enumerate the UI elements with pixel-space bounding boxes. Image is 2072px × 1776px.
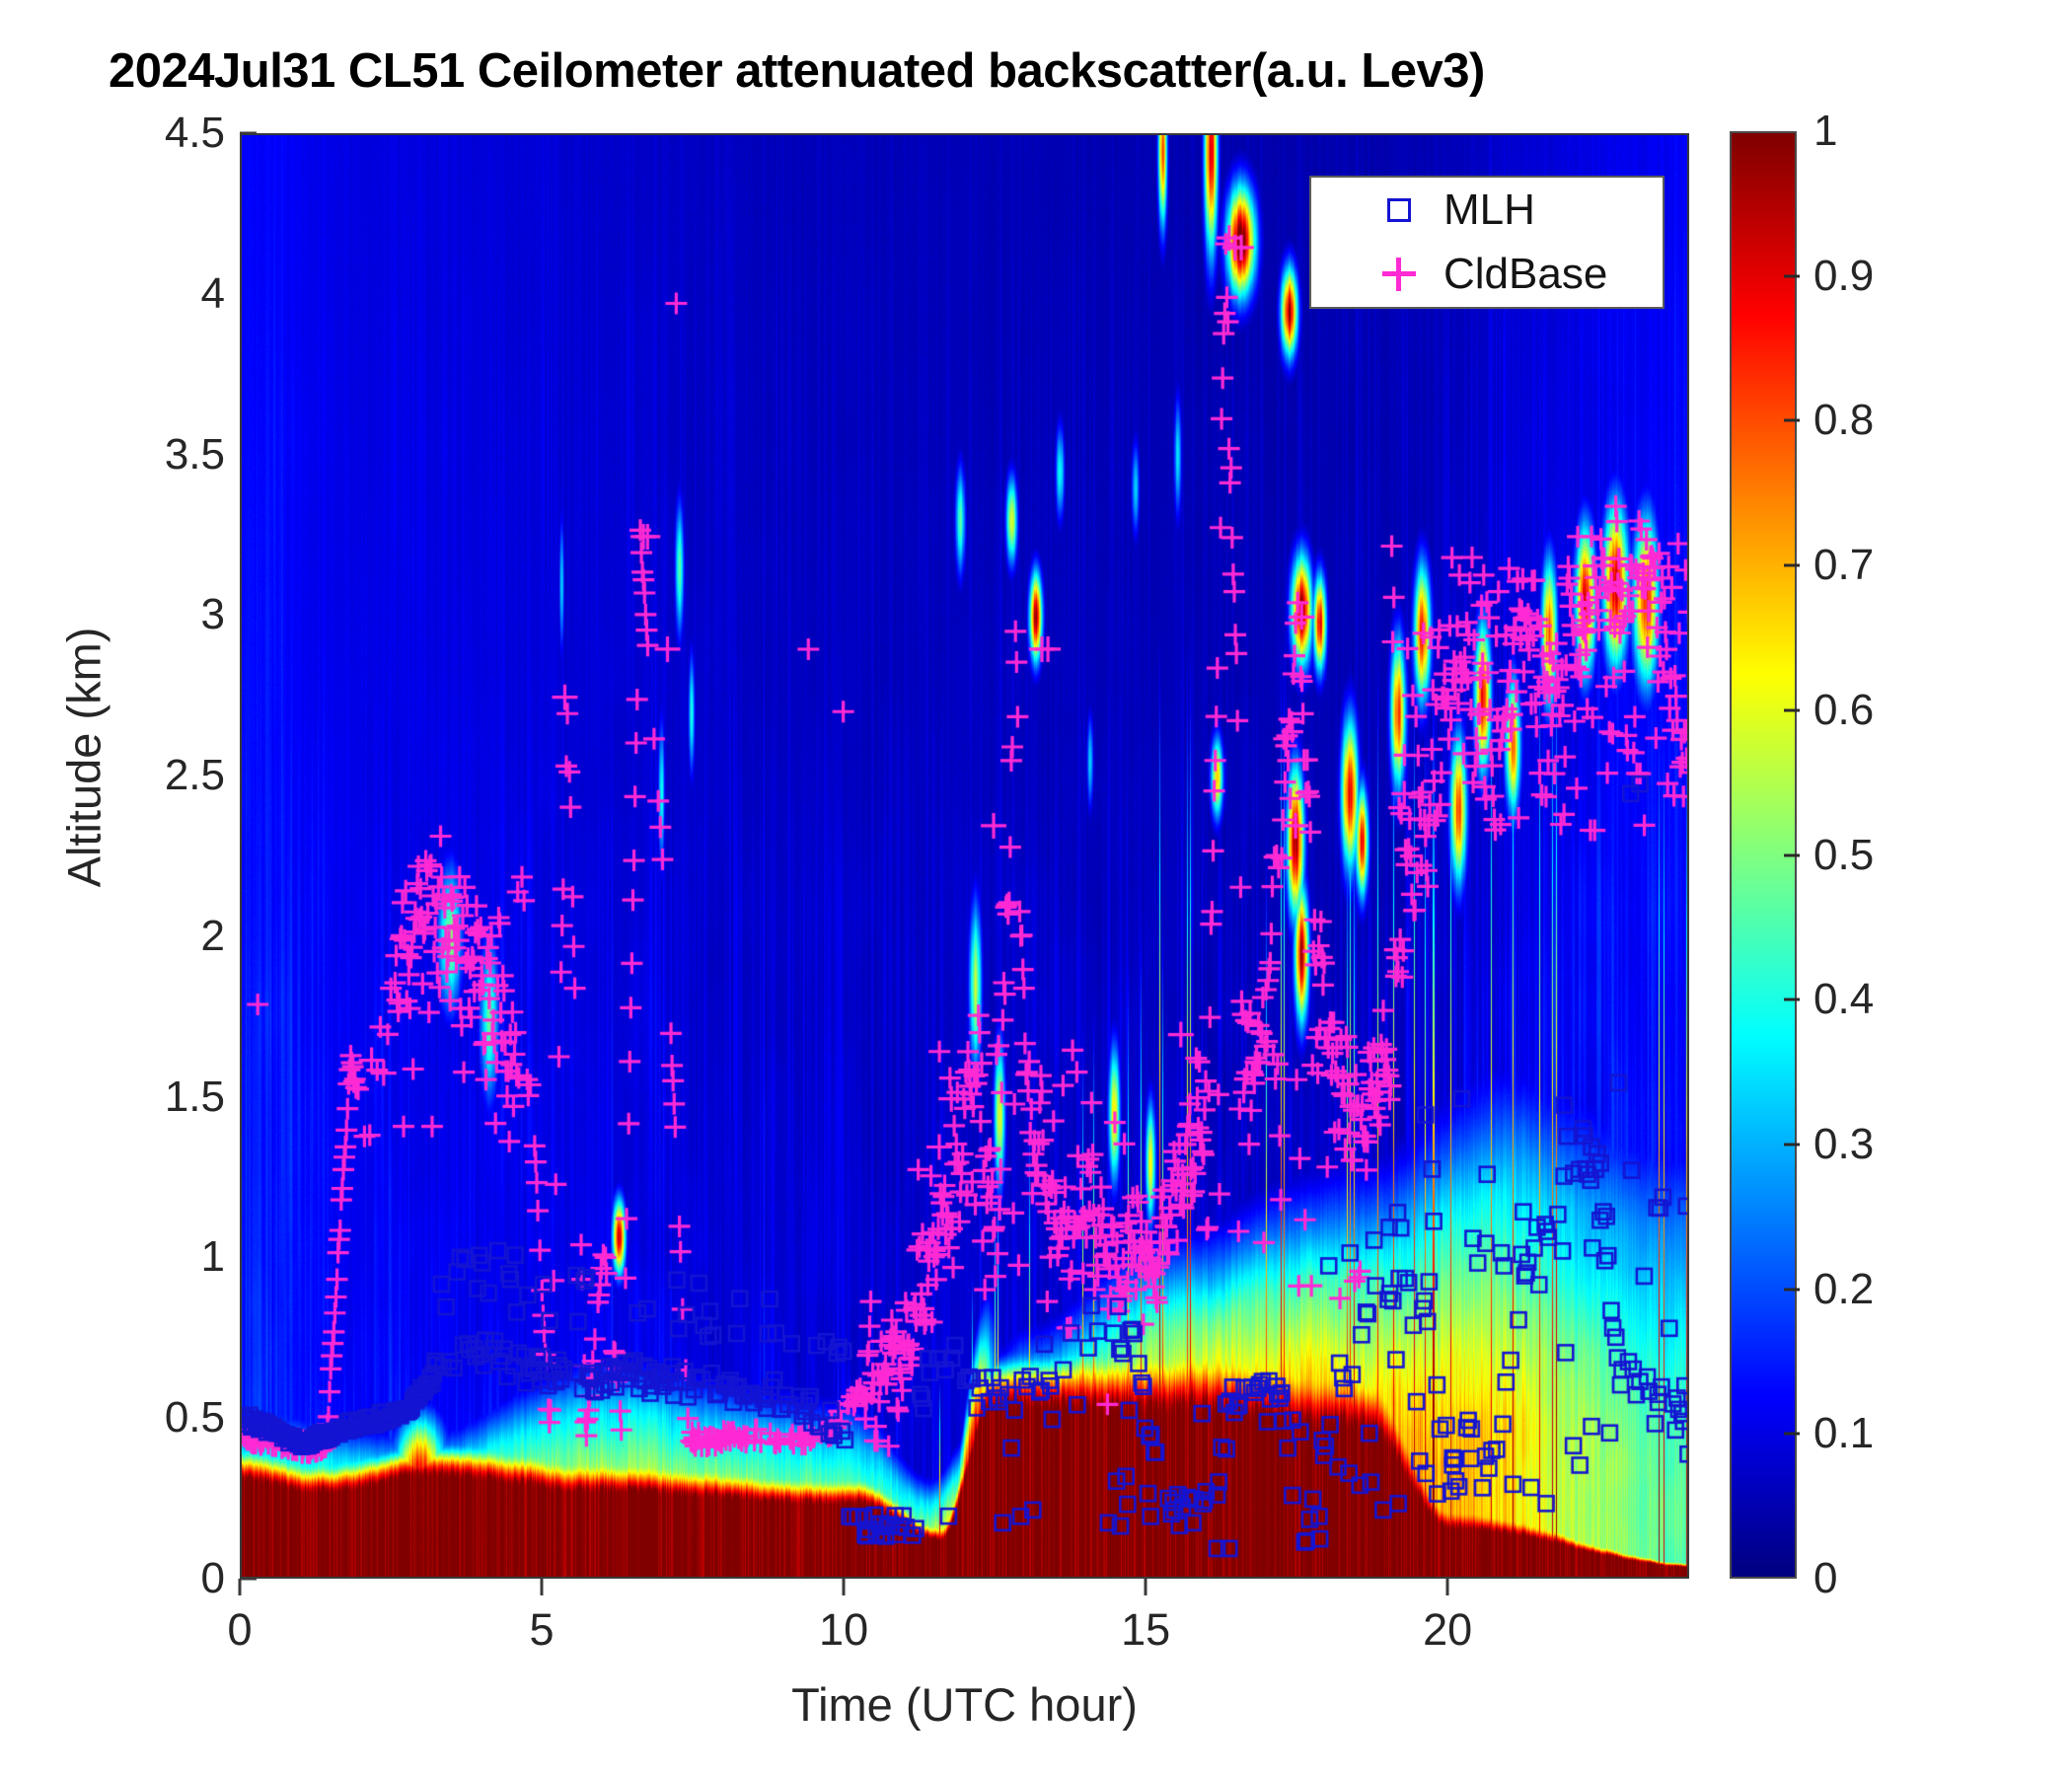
colorbar-tick-mark	[1784, 708, 1800, 711]
x-tick-mark	[1446, 1579, 1449, 1595]
colorbar-tick-mark	[1784, 274, 1800, 277]
colorbar-tick-label: 0.6	[1813, 686, 1874, 735]
y-tick-label: 1	[201, 1232, 225, 1282]
colorbar-tick-label: 1	[1813, 107, 1837, 156]
x-tick-mark	[1145, 1579, 1147, 1595]
colorbar-tick-label: 0.3	[1813, 1120, 1874, 1169]
colorbar-tick-mark	[1784, 1143, 1800, 1146]
chart-root: 2024Jul31 CL51 Ceilometer attenuated bac…	[0, 0, 2072, 1776]
colorbar-tick-label: 0.9	[1813, 252, 1874, 301]
colorbar-tick-mark	[1784, 564, 1800, 567]
y-tick-label: 3	[201, 590, 225, 639]
colorbar-tick-mark	[1784, 853, 1800, 856]
colorbar-tick-label: 0.8	[1813, 396, 1874, 445]
legend-label-mlh: MLH	[1443, 185, 1535, 235]
colorbar-tick-label: 0.4	[1813, 975, 1874, 1024]
y-tick-label: 3.5	[165, 430, 225, 480]
colorbar-tick-label: 0.5	[1813, 831, 1874, 880]
y-tick-label: 1.5	[165, 1073, 225, 1122]
y-tick-label: 0.5	[165, 1393, 225, 1443]
heatmap-plot-area[interactable]	[240, 133, 1689, 1579]
legend-entry-cldbase[interactable]: CldBase	[1311, 243, 1663, 308]
y-tick-label: 4.5	[165, 109, 225, 158]
y-tick-label: 0	[201, 1554, 225, 1603]
mlh-cldbase-marker-canvas	[242, 135, 1689, 1579]
colorbar-tick-mark	[1784, 1288, 1800, 1291]
x-tick-label: 20	[1423, 1604, 1472, 1656]
x-tick-mark	[541, 1579, 544, 1595]
colorbar-tick-mark	[1784, 419, 1800, 422]
colorbar-tick-mark	[1784, 1433, 1800, 1436]
colorbar-tick-label: 0.7	[1813, 541, 1874, 590]
x-axis-label: Time (UTC hour)	[240, 1677, 1689, 1732]
y-tick-label: 2	[201, 912, 225, 961]
x-tick-label: 15	[1121, 1604, 1170, 1656]
legend-entry-mlh[interactable]: MLH	[1311, 178, 1663, 243]
legend-label-cldbase: CldBase	[1443, 250, 1607, 299]
y-axis-tick-labels: 00.511.522.533.544.5	[59, 0, 225, 1776]
chart-title: 2024Jul31 CL51 Ceilometer attenuated bac…	[109, 43, 1885, 103]
x-tick-mark	[239, 1579, 242, 1595]
y-tick-label: 4	[201, 269, 225, 319]
mlh-square-icon	[1355, 198, 1443, 222]
x-tick-label: 10	[819, 1604, 868, 1656]
cldbase-plus-icon	[1355, 258, 1443, 291]
colorbar-tick-label: 0.2	[1813, 1265, 1874, 1314]
colorbar-tick-mark	[1784, 999, 1800, 1001]
y-tick-label: 2.5	[165, 751, 225, 800]
colorbar-tick-label: 0	[1813, 1554, 1837, 1603]
colorbar-tick-label: 0.1	[1813, 1409, 1874, 1458]
x-tick-label: 0	[227, 1604, 252, 1656]
x-tick-mark	[843, 1579, 846, 1595]
chart-legend[interactable]: MLH CldBase	[1309, 176, 1665, 309]
x-tick-label: 5	[530, 1604, 555, 1656]
